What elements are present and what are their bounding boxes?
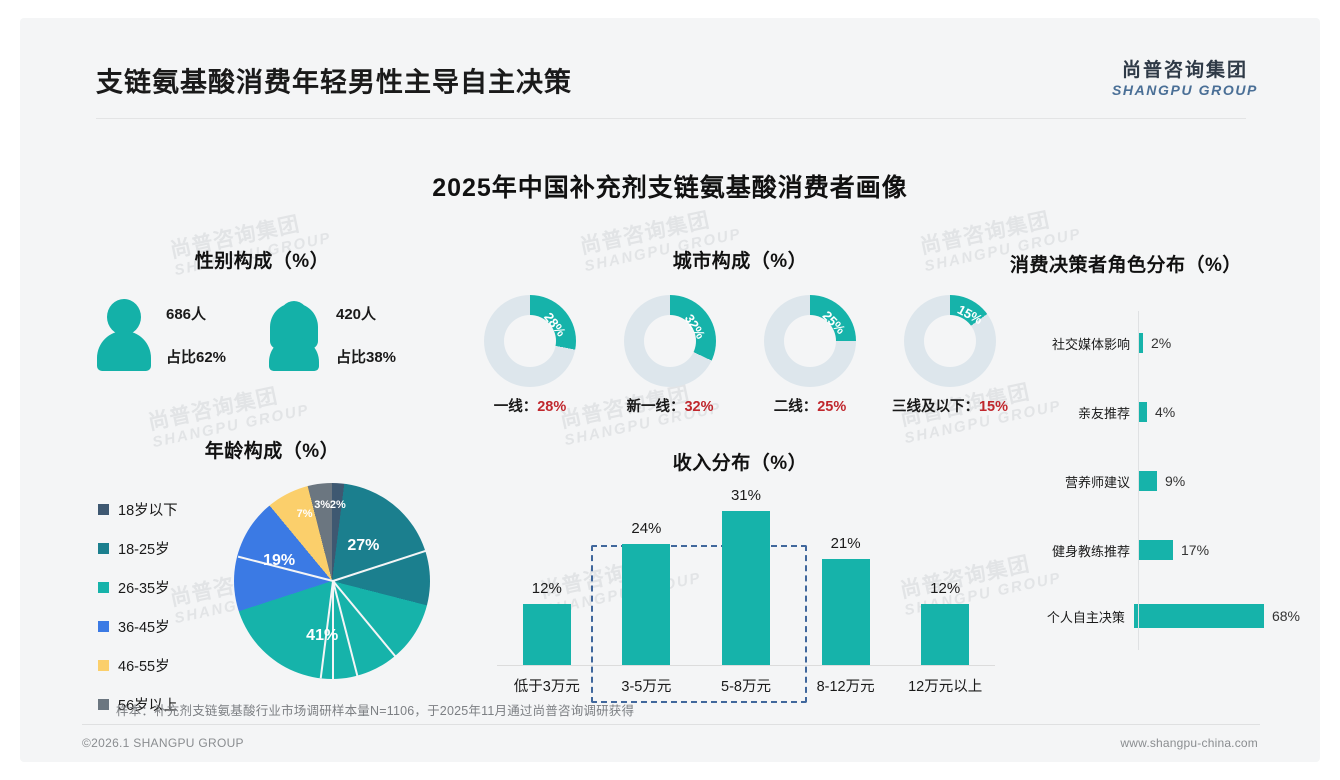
pie-label-26-35: 41%: [306, 627, 338, 645]
income-category: 低于3万元: [514, 675, 580, 696]
donut-chart: 28%: [484, 295, 576, 387]
legend-item: 36-45岁: [98, 616, 178, 637]
age-title: 年龄构成（%）: [82, 436, 462, 463]
legend-label: 18岁以下: [118, 499, 178, 520]
decision-label: 健身教练推荐: [1010, 541, 1138, 560]
city-label: 新一线：: [626, 399, 684, 415]
decision-value: 68%: [1272, 608, 1300, 624]
income-bar-col: 24%: [603, 487, 689, 702]
gender-section: 性别构成（%） 686人 占比62% 420人 占比38%: [82, 246, 442, 371]
city-donut-tier2: 25% 二线：25%: [746, 295, 874, 416]
income-bar: [523, 604, 571, 665]
city-caption-tier3: 三线及以下：15%: [886, 395, 1014, 416]
city-donut-tier3: 15% 三线及以下：15%: [886, 295, 1014, 416]
city-value: 25%: [817, 399, 846, 415]
income-value: 31%: [731, 487, 761, 504]
legend-label: 26-35岁: [118, 577, 170, 598]
female-person-icon: [266, 299, 322, 371]
decision-row: 健身教练推荐 17%: [1010, 518, 1300, 582]
decision-value: 2%: [1151, 335, 1171, 351]
website-url[interactable]: www.shangpu-china.com: [1120, 736, 1258, 750]
city-donut-tier1: 28% 一线：28%: [466, 295, 594, 416]
gender-item-female: 420人 占比38%: [266, 299, 436, 371]
income-bar-col: 21%: [803, 487, 889, 702]
brand-logo-en: SHANGPU GROUP: [1112, 82, 1258, 99]
decision-bar: [1139, 333, 1143, 353]
income-bar: [722, 511, 770, 665]
decision-row: 营养师建议 9%: [1010, 449, 1300, 513]
income-bar: [622, 544, 670, 665]
decision-bar: [1139, 471, 1157, 491]
income-category: 8-12万元: [817, 675, 875, 696]
income-bar-col: 12%: [504, 487, 590, 702]
decision-value: 4%: [1155, 404, 1175, 420]
city-label: 二线：: [774, 399, 818, 415]
legend-label: 18-25岁: [118, 538, 170, 559]
city-value: 28%: [537, 399, 566, 415]
legend-item: 18-25岁: [98, 538, 178, 559]
decision-label: 营养师建议: [1010, 472, 1138, 491]
header-divider: [96, 118, 1246, 119]
decision-value: 17%: [1181, 542, 1209, 558]
legend-item: 26-35岁: [98, 577, 178, 598]
legend-swatch: [98, 582, 109, 593]
legend-swatch: [98, 660, 109, 671]
donut-chart: 32%: [624, 295, 716, 387]
brand-logo-cn: 尚普咨询集团: [1112, 60, 1258, 82]
male-percent: 占比62%: [166, 346, 226, 367]
decision-value: 9%: [1165, 473, 1185, 489]
legend-swatch: [98, 543, 109, 554]
city-label: 一线：: [494, 399, 538, 415]
slide-canvas: 尚普咨询集团 SHANGPU GROUP 尚普咨询集团 SHANGPU GROU…: [20, 18, 1320, 762]
legend-swatch: [98, 504, 109, 515]
male-count: 686人: [166, 303, 226, 324]
age-section: 年龄构成（%） 18岁以下 18-25岁 26-35岁 36-45岁 46-55…: [82, 436, 462, 697]
income-cat-col: 3-5万元: [603, 675, 689, 696]
legend-label: 46-55岁: [118, 655, 170, 676]
pie-label-46-55: 7%: [297, 508, 313, 520]
income-section: 收入分布（%） 12% 24% 31%: [475, 448, 1005, 702]
city-value: 15%: [979, 399, 1008, 415]
decision-label: 社交媒体影响: [1010, 334, 1138, 353]
income-category: 12万元以上: [908, 675, 982, 696]
female-count: 420人: [336, 303, 396, 324]
donut-chart: 25%: [764, 295, 856, 387]
age-legend: 18岁以下 18-25岁 26-35岁 36-45岁 46-55岁 56岁以上: [98, 499, 178, 733]
city-label: 三线及以下：: [892, 399, 979, 415]
income-cat-col: 8-12万元: [803, 675, 889, 696]
gender-title: 性别构成（%）: [82, 246, 442, 273]
pie-label-36-45: 19%: [263, 552, 295, 570]
copyright-text: ©2026.1 SHANGPU GROUP: [82, 736, 244, 750]
footer-divider: [82, 724, 1260, 725]
income-value: 24%: [631, 520, 661, 537]
pie-label-56-plus: 3%: [314, 499, 330, 511]
slide-header: 支链氨基酸消费年轻男性主导自主决策 尚普咨询集团 SHANGPU GROUP: [20, 18, 1320, 100]
city-value: 32%: [684, 399, 713, 415]
main-chart-title: 2025年中国补充剂支链氨基酸消费者画像: [20, 168, 1320, 204]
decision-row: 亲友推荐 4%: [1010, 380, 1300, 444]
watermark-cn: 尚普咨询集团: [145, 374, 308, 437]
female-percent: 占比38%: [336, 346, 396, 367]
page-title: 支链氨基酸消费年轻男性主导自主决策: [96, 61, 572, 100]
decision-bar: [1134, 604, 1264, 628]
pie-label-under-18: 2%: [330, 499, 346, 511]
income-bar-col: 31%: [703, 487, 789, 702]
income-category: 3-5万元: [621, 675, 671, 696]
decision-label: 个人自主决策: [1010, 607, 1133, 626]
age-pie-chart: 27% 41% 19% 7% 3% 2%: [234, 483, 430, 679]
decision-section: 消费决策者角色分布（%） 社交媒体影响 2% 亲友推荐 4% 营养师建议 9% …: [1010, 250, 1300, 656]
footnote: 样本：补充剂支链氨基酸行业市场调研样本量N=1106，于2025年11月通过尚普…: [116, 700, 634, 719]
income-bar: [822, 559, 870, 665]
city-caption-tier2: 二线：25%: [746, 395, 874, 416]
decision-row: 个人自主决策 68%: [1010, 587, 1300, 645]
income-value: 21%: [831, 535, 861, 552]
income-bar-col: 12%: [902, 487, 988, 702]
legend-swatch: [98, 621, 109, 632]
city-title: 城市构成（%）: [460, 246, 1020, 273]
legend-item: 18岁以下: [98, 499, 178, 520]
city-caption-tier1: 一线：28%: [466, 395, 594, 416]
decision-row: 社交媒体影响 2%: [1010, 311, 1300, 375]
brand-logo: 尚普咨询集团 SHANGPU GROUP: [1112, 60, 1258, 99]
income-title: 收入分布（%）: [475, 448, 1005, 475]
legend-item: 46-55岁: [98, 655, 178, 676]
income-cat-col: 5-8万元: [703, 675, 789, 696]
income-bar: [921, 604, 969, 665]
decision-axis-line: [1138, 311, 1139, 650]
pie-label-18-25: 27%: [347, 537, 379, 555]
city-section: 城市构成（%） 28% 一线：28% 32% 新一线：32%: [460, 246, 1020, 416]
income-category: 5-8万元: [721, 675, 771, 696]
income-cat-col: 低于3万元: [504, 675, 590, 696]
income-cat-col: 12万元以上: [902, 675, 988, 696]
city-donut-row: 28% 一线：28% 32% 新一线：32% 25%: [460, 295, 1020, 416]
legend-label: 36-45岁: [118, 616, 170, 637]
gender-item-male: 686人 占比62%: [96, 299, 266, 371]
donut-chart: 15%: [904, 295, 996, 387]
decision-bar: [1139, 402, 1147, 422]
income-value: 12%: [930, 580, 960, 597]
decision-title: 消费决策者角色分布（%）: [1010, 250, 1300, 277]
income-value: 12%: [532, 580, 562, 597]
decision-bar: [1139, 540, 1173, 560]
decision-label: 亲友推荐: [1010, 403, 1138, 422]
city-donut-newtier1: 32% 新一线：32%: [606, 295, 734, 416]
male-person-icon: [96, 299, 152, 371]
legend-swatch: [98, 699, 109, 710]
city-caption-newtier1: 新一线：32%: [606, 395, 734, 416]
